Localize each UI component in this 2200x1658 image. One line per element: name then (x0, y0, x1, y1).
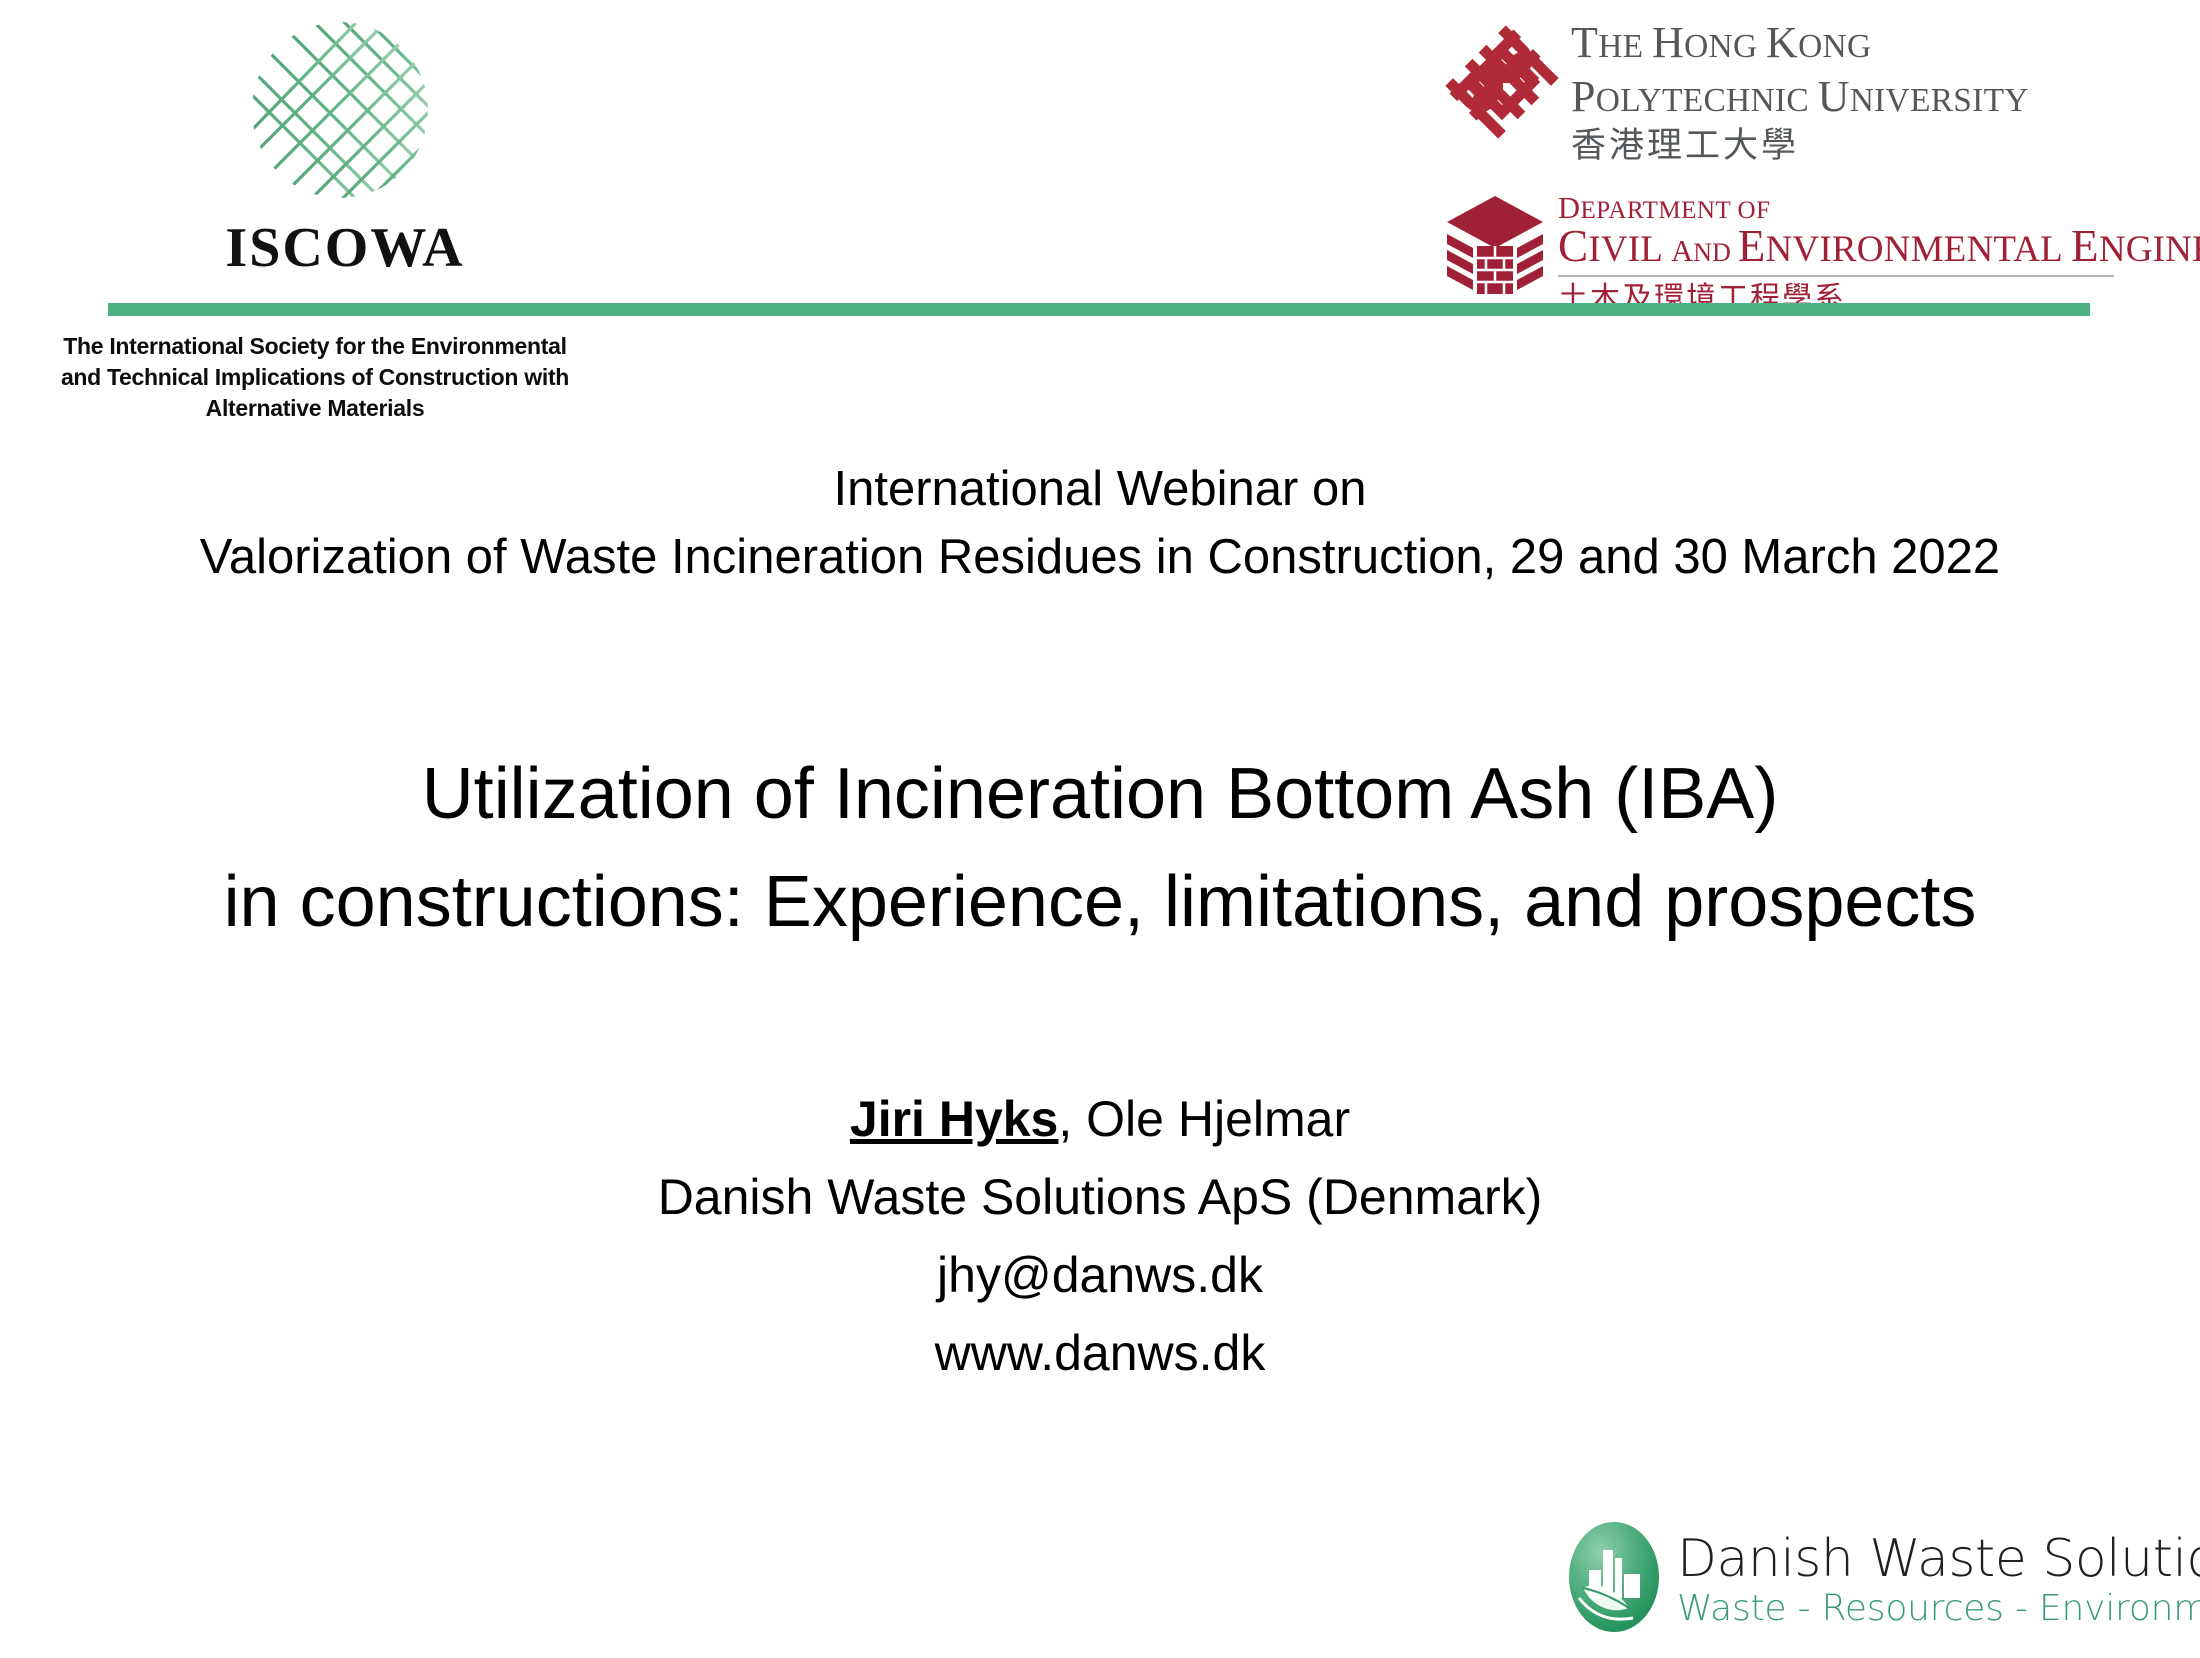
page-title: Utilization of Incineration Bottom Ash (… (0, 740, 2200, 956)
cee-divider-rule (1558, 275, 2114, 277)
page-title-line1: Utilization of Incineration Bottom Ash (… (0, 740, 2200, 848)
stacked-cube-icon (1443, 192, 1548, 297)
dws-company-name: Danish Waste Solutions (1677, 1530, 2200, 1588)
polyu-t: T (1571, 18, 1598, 67)
title-slide: ISCOWA THE HONG KONG POLYTECH (0, 0, 2200, 1658)
danish-waste-solutions-logo: Danish Waste Solutions Waste - Resources… (1555, 1518, 2175, 1638)
cee-department-logo: DEPARTMENT OF CIVIL AND ENVIRONMENTAL EN… (1443, 192, 2103, 297)
iscowa-wordmark: ISCOWA (180, 216, 510, 280)
author-affiliation: Danish Waste Solutions ApS (Denmark) (0, 1158, 2200, 1236)
cee-epartment-of: EPARTMENT OF (1581, 197, 1771, 224)
polyu-niversity: NIVERSITY (1850, 82, 2029, 119)
polyu-name-line1: THE HONG KONG (1571, 18, 2029, 72)
author-names-line: Jiri Hyks, Ole Hjelmar (0, 1080, 2200, 1158)
cee-e: E (1738, 221, 1766, 271)
polyu-text-block: THE HONG KONG POLYTECHNIC UNIVERSITY 香港理… (1571, 18, 2029, 166)
polyu-p: P (1571, 72, 1596, 121)
polyu-ong: ONG (1684, 28, 1766, 65)
cee-d: D (1558, 191, 1581, 225)
presenter-name: Jiri Hyks (850, 1091, 1058, 1147)
author-block: Jiri Hyks, Ole Hjelmar Danish Waste Solu… (0, 1080, 2200, 1392)
polyu-chinese-name: 香港理工大學 (1571, 126, 2029, 166)
author-email[interactable]: jhy@danws.dk (0, 1236, 2200, 1314)
polyu-knot-icon (1443, 23, 1561, 141)
polyu-logo: THE HONG KONG POLYTECHNIC UNIVERSITY 香港理… (1443, 18, 2083, 143)
cee-c: C (1558, 221, 1588, 271)
cee-a: A (1671, 234, 1693, 268)
polyu-k: K (1766, 18, 1798, 67)
polyu-ong2: ONG (1798, 28, 1871, 65)
author-website[interactable]: www.danws.dk (0, 1314, 2200, 1392)
page-title-line2: in constructions: Experience, limitation… (0, 848, 2200, 956)
polyu-name-line2: POLYTECHNIC UNIVERSITY (1571, 72, 2029, 126)
webinar-header-line1: International Webinar on (0, 455, 2200, 523)
polyu-olytechnic: OLYTECHNIC (1596, 82, 1818, 119)
polyu-u: U (1818, 72, 1850, 121)
iscowa-tagline: The International Society for the Enviro… (55, 331, 575, 424)
dws-green-oval-icon (1555, 1518, 1673, 1636)
polyu-h: H (1652, 18, 1684, 67)
green-divider-bar (108, 303, 2090, 316)
dws-tagline: Waste - Resources - Environment (1677, 1588, 2200, 1630)
cee-ngineering: NGINEERING (2099, 229, 2200, 270)
cee-nd: ND (1693, 238, 1737, 267)
cee-prefix: DEPARTMENT OF (1558, 194, 2200, 225)
co-author-names: , Ole Hjelmar (1058, 1091, 1350, 1147)
cee-name: CIVIL AND ENVIRONMENTAL ENGINEERING (1558, 225, 2200, 274)
iscowa-logo: ISCOWA (245, 18, 445, 218)
polyu-he: HE (1598, 28, 1652, 65)
webinar-header-line2: Valorization of Waste Incineration Resid… (0, 523, 2200, 591)
cee-e2: E (2071, 221, 2099, 271)
mesh-globe-icon (245, 18, 435, 208)
dws-text-block: Danish Waste Solutions Waste - Resources… (1677, 1530, 2200, 1630)
cee-ivil: IVIL (1588, 229, 1671, 270)
cee-text-block: DEPARTMENT OF CIVIL AND ENVIRONMENTAL EN… (1558, 194, 2200, 317)
webinar-header: International Webinar on Valorization of… (0, 455, 2200, 591)
cee-nvironmental: NVIRONMENTAL (1766, 229, 2072, 270)
